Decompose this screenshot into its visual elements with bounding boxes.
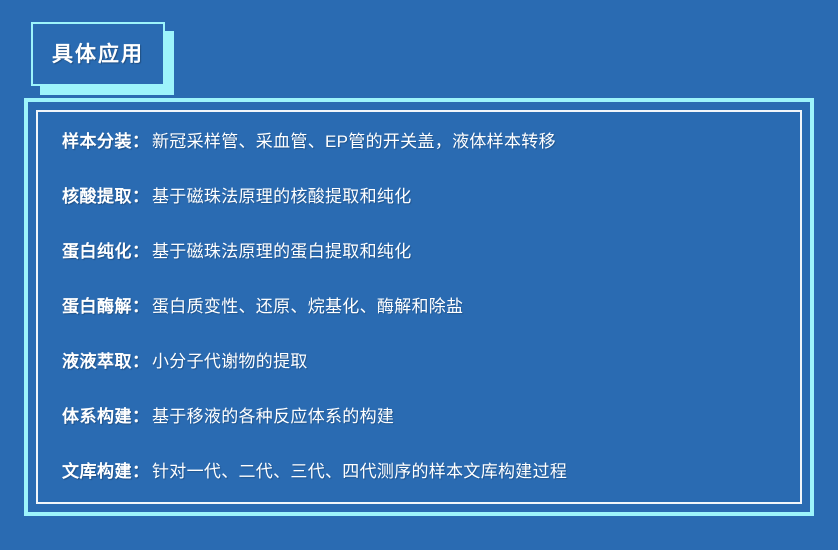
list-item-separator: ： (132, 187, 149, 207)
list-item-description: 新冠采样管、采血管、EP管的开关盖，液体样本转移 (152, 132, 556, 152)
list-item: 核酸提取 ： 基于磁珠法原理的核酸提取和纯化 (62, 183, 776, 211)
list-item-separator: ： (132, 352, 149, 372)
applications-list: 样本分装 ： 新冠采样管、采血管、EP管的开关盖，液体样本转移 核酸提取 ： 基… (62, 128, 776, 486)
applications-panel-inner: 样本分装 ： 新冠采样管、采血管、EP管的开关盖，液体样本转移 核酸提取 ： 基… (36, 110, 802, 504)
list-item-label: 文库构建 (62, 462, 132, 482)
list-item-separator: ： (132, 407, 149, 427)
list-item: 样本分装 ： 新冠采样管、采血管、EP管的开关盖，液体样本转移 (62, 128, 776, 156)
list-item-description: 基于磁珠法原理的蛋白提取和纯化 (152, 242, 412, 262)
list-item-description: 小分子代谢物的提取 (152, 352, 308, 372)
list-item: 文库构建 ： 针对一代、二代、三代、四代测序的样本文库构建过程 (62, 458, 776, 486)
list-item-label: 体系构建 (62, 407, 132, 427)
list-item-separator: ： (132, 297, 149, 317)
list-item-description: 基于移液的各种反应体系的构建 (152, 407, 394, 427)
list-item: 液液萃取 ： 小分子代谢物的提取 (62, 348, 776, 376)
list-item-separator: ： (132, 132, 149, 152)
list-item: 体系构建 ： 基于移液的各种反应体系的构建 (62, 403, 776, 431)
list-item: 蛋白酶解 ： 蛋白质变性、还原、烷基化、酶解和除盐 (62, 293, 776, 321)
list-item-label: 样本分装 (62, 132, 132, 152)
list-item-label: 核酸提取 (62, 187, 132, 207)
list-item-label: 液液萃取 (62, 352, 132, 372)
list-item-description: 蛋白质变性、还原、烷基化、酶解和除盐 (152, 297, 463, 317)
list-item: 蛋白纯化 ： 基于磁珠法原理的蛋白提取和纯化 (62, 238, 776, 266)
list-item-description: 基于磁珠法原理的核酸提取和纯化 (152, 187, 412, 207)
list-item-label: 蛋白纯化 (62, 242, 132, 262)
title-badge-frame: 具体应用 (31, 22, 165, 86)
section-title-badge: 具体应用 (31, 22, 165, 86)
section-title-text: 具体应用 (52, 44, 144, 65)
list-item-separator: ： (132, 242, 149, 262)
list-item-description: 针对一代、二代、三代、四代测序的样本文库构建过程 (152, 462, 567, 482)
list-item-label: 蛋白酶解 (62, 297, 132, 317)
list-item-separator: ： (132, 462, 149, 482)
applications-panel: 样本分装 ： 新冠采样管、采血管、EP管的开关盖，液体样本转移 核酸提取 ： 基… (24, 98, 814, 516)
